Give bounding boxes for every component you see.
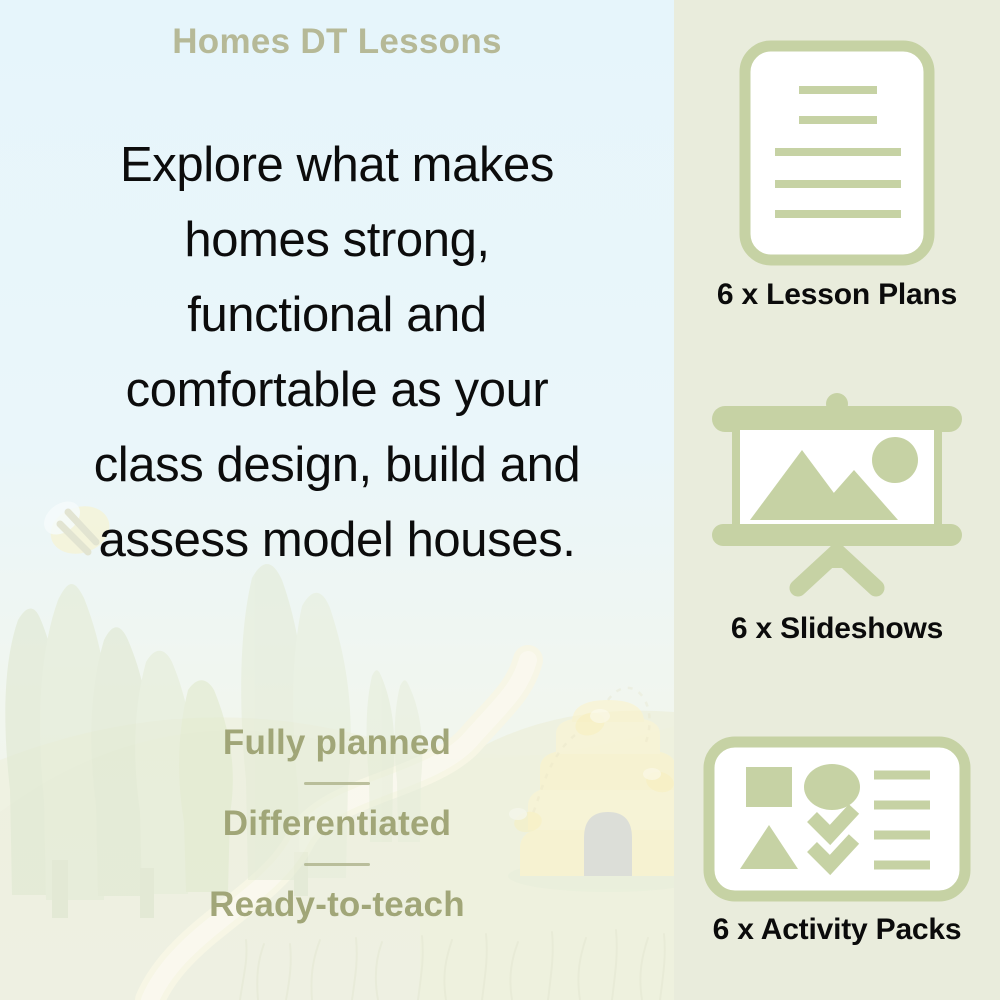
body-line: homes strong, (30, 203, 644, 278)
tagline-list: Fully planned Differentiated Ready-to-te… (0, 718, 674, 930)
document-icon (737, 38, 937, 268)
feature-caption: 6 x Slideshows (674, 612, 1000, 646)
activity-card-icon (702, 735, 972, 903)
feature-icon-wrap (674, 392, 1000, 602)
feature-caption: 6 x Activity Packs (674, 913, 1000, 947)
page-title: Homes DT Lessons (0, 22, 674, 62)
feature-activity-packs: 6 x Activity Packs (674, 735, 1000, 947)
projector-screen-icon (702, 392, 972, 602)
tagline-fully-planned: Fully planned (0, 718, 674, 768)
body-line: functional and (30, 278, 644, 353)
body-line: comfortable as your (30, 353, 644, 428)
features-panel: 6 x Lesson Plans (674, 0, 1000, 1000)
body-line: class design, build and (30, 428, 644, 503)
tagline-differentiated: Differentiated (0, 799, 674, 849)
tagline-ready-to-teach: Ready-to-teach (0, 880, 674, 930)
feature-lesson-plans: 6 x Lesson Plans (674, 38, 1000, 312)
body-copy: Explore what makes homes strong, functio… (30, 128, 644, 578)
feature-slideshows: 6 x Slideshows (674, 392, 1000, 646)
feature-icon-wrap (674, 38, 1000, 268)
left-content-pane: Homes DT Lessons Explore what makes home… (0, 0, 674, 1000)
body-line: Explore what makes (30, 128, 644, 203)
promo-graphic: Homes DT Lessons Explore what makes home… (0, 0, 1000, 1000)
tagline-divider (304, 782, 370, 785)
tagline-divider (304, 863, 370, 866)
body-line: assess model houses. (30, 503, 644, 578)
feature-icon-wrap (674, 735, 1000, 903)
feature-caption: 6 x Lesson Plans (674, 278, 1000, 312)
